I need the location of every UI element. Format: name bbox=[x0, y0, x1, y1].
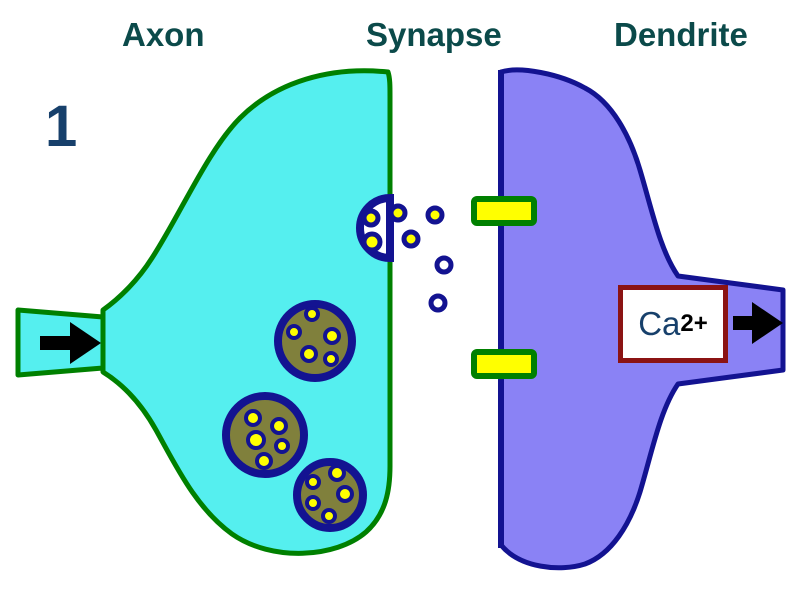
vesicle-3 bbox=[297, 462, 363, 528]
label-synapse: Synapse bbox=[366, 16, 502, 54]
transmitter bbox=[428, 208, 442, 222]
transmitter bbox=[307, 476, 319, 488]
vesicle-1 bbox=[278, 304, 352, 378]
transmitter bbox=[248, 432, 264, 448]
transmitter bbox=[330, 466, 344, 480]
calcium-ion-box: Ca2+ bbox=[618, 285, 728, 363]
transmitter bbox=[302, 347, 316, 361]
fusing-vesicle bbox=[360, 198, 390, 258]
receptor-channel-top[interactable] bbox=[474, 199, 534, 223]
transmitter bbox=[276, 440, 288, 452]
transmitter bbox=[323, 510, 335, 522]
calcium-ion-label: Ca2+ bbox=[623, 290, 723, 358]
diagram-canvas: Axon Synapse Dendrite 1 Ca2+ bbox=[0, 0, 800, 600]
transmitter bbox=[307, 497, 319, 509]
transmitter bbox=[364, 234, 380, 250]
transmitter bbox=[257, 454, 271, 468]
transmitter bbox=[246, 411, 260, 425]
transmitter bbox=[364, 211, 378, 225]
receptor-channel-bottom[interactable] bbox=[474, 352, 534, 376]
transmitter bbox=[288, 326, 300, 338]
label-axon: Axon bbox=[122, 16, 205, 54]
transmitter bbox=[325, 353, 337, 365]
transmitter bbox=[272, 419, 286, 433]
transmitter bbox=[391, 206, 405, 220]
transmitter bbox=[431, 296, 445, 310]
ion-name: Ca bbox=[638, 305, 680, 343]
transmitter bbox=[325, 329, 339, 343]
transmitter bbox=[404, 232, 418, 246]
transmitter bbox=[437, 258, 451, 272]
transmitter bbox=[338, 487, 352, 501]
vesicle-2 bbox=[226, 396, 304, 474]
synaptic-cleft-transmitters bbox=[391, 206, 451, 310]
label-dendrite: Dendrite bbox=[614, 16, 748, 54]
transmitter bbox=[306, 308, 318, 320]
step-number: 1 bbox=[45, 98, 77, 156]
